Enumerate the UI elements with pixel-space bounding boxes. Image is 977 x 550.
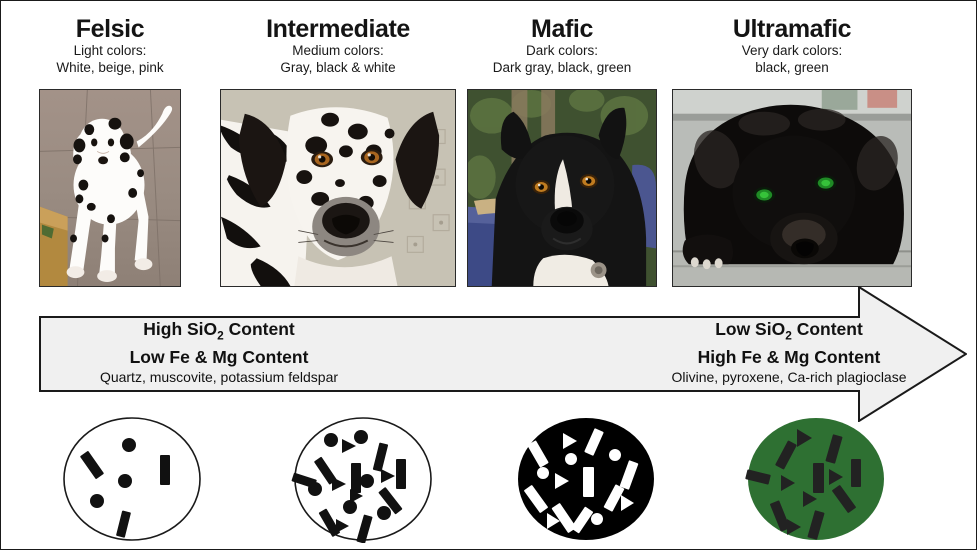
column-title: Felsic	[39, 15, 181, 43]
column-color-list: Dark gray, black, green	[467, 60, 657, 77]
arrow-right-line3: Olivine, pyroxene, Ca-rich plagioclase	[619, 368, 959, 386]
column-heading-ultramafic: Ultramafic Very dark colors: black, gree…	[672, 15, 912, 76]
column-heading-mafic: Mafic Dark colors: Dark gray, black, gre…	[467, 15, 657, 76]
photo-felsic-dog	[39, 89, 181, 287]
column-title: Mafic	[467, 15, 657, 43]
ultramafic-rock-circle	[741, 415, 891, 543]
column-heading-intermediate: Intermediate Medium colors: Gray, black …	[220, 15, 456, 76]
sio2-subscript: 2	[785, 329, 792, 343]
igneous-composition-diagram: Felsic Light colors: White, beige, pink …	[0, 0, 977, 550]
column-color-label: Medium colors:	[220, 43, 456, 60]
sio2-content-arrow: High SiO2 Content Low Fe & Mg Content Qu…	[39, 286, 967, 422]
arrow-right-line2: High Fe & Mg Content	[619, 347, 959, 368]
photo-intermediate-dog	[220, 89, 456, 287]
column-color-label: Light colors:	[39, 43, 181, 60]
arrow-left-line3: Quartz, muscovite, potassium feldspar	[49, 368, 389, 386]
column-color-list: White, beige, pink	[39, 60, 181, 77]
column-color-label: Very dark colors:	[672, 43, 912, 60]
intermediate-rock-circle	[288, 415, 438, 543]
felsic-rock-circle	[57, 415, 207, 543]
photo-ultramafic-dog	[672, 89, 912, 287]
column-color-list: Gray, black & white	[220, 60, 456, 77]
column-title: Intermediate	[220, 15, 456, 43]
arrow-right-text: Low SiO2 Content High Fe & Mg Content Ol…	[619, 319, 959, 386]
arrow-left-line2: Low Fe & Mg Content	[49, 347, 389, 368]
column-color-list: black, green	[672, 60, 912, 77]
column-color-label: Dark colors:	[467, 43, 657, 60]
column-heading-felsic: Felsic Light colors: White, beige, pink	[39, 15, 181, 76]
arrow-right-line1: Low SiO2 Content	[619, 319, 959, 347]
arrow-left-text: High SiO2 Content Low Fe & Mg Content Qu…	[49, 319, 389, 386]
mafic-rock-circle	[511, 415, 661, 543]
sio2-subscript: 2	[217, 329, 224, 343]
arrow-left-line1: High SiO2 Content	[49, 319, 389, 347]
photo-mafic-dog	[467, 89, 657, 287]
column-title: Ultramafic	[672, 15, 912, 43]
